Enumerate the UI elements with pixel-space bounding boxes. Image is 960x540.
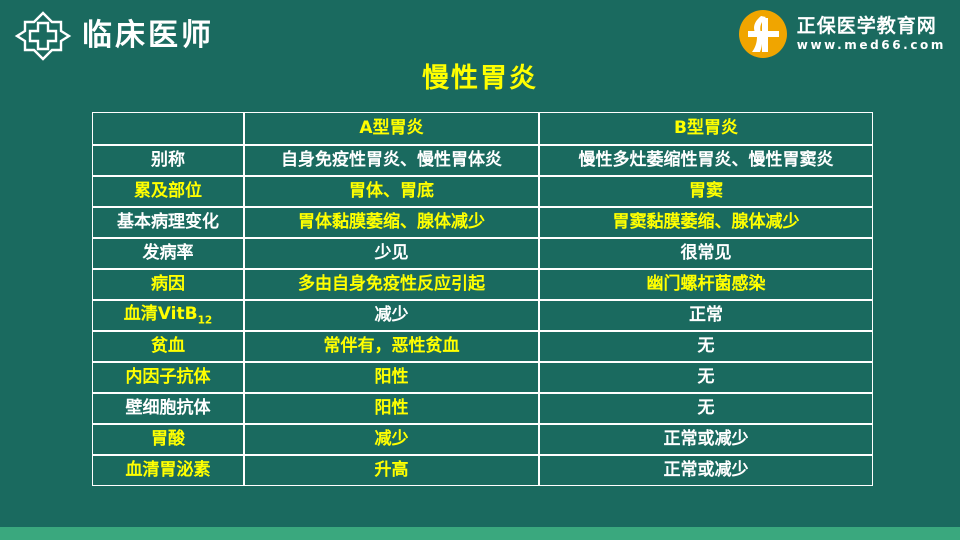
table-cell-type-b: 无 [539, 393, 873, 424]
table-header-cell: A型胃炎 [244, 112, 539, 145]
table-cell-type-b: 幽门螺杆菌感染 [539, 269, 873, 300]
table-row-label: 血清VitB12 [92, 300, 244, 331]
table-row-label: 累及部位 [92, 176, 244, 207]
table-row-label: 壁细胞抗体 [92, 393, 244, 424]
table-cell-type-b: 胃窦黏膜萎缩、腺体减少 [539, 207, 873, 238]
table-row-label: 病因 [92, 269, 244, 300]
table-cell-type-a: 多由自身免疫性反应引起 [244, 269, 539, 300]
table-cell-type-a: 少见 [244, 238, 539, 269]
table-row: 血清胃泌素升高正常或减少 [92, 455, 873, 486]
table-cell-type-b: 很常见 [539, 238, 873, 269]
table-row: 贫血常伴有，恶性贫血无 [92, 331, 873, 362]
table-cell-type-b: 慢性多灶萎缩性胃炎、慢性胃窦炎 [539, 145, 873, 176]
table-row-label: 胃酸 [92, 424, 244, 455]
table-header-corner [92, 112, 244, 145]
med66-title: 正保医学教育网 [797, 17, 946, 36]
table-row: 血清VitB12减少正常 [92, 300, 873, 331]
page-title: 慢性胃炎 [0, 63, 960, 95]
table-row: 壁细胞抗体阳性无 [92, 393, 873, 424]
table-row: 病因多由自身免疫性反应引起幽门螺杆菌感染 [92, 269, 873, 300]
table-cell-type-a: 自身免疫性胃炎、慢性胃体炎 [244, 145, 539, 176]
slide-canvas: 临床医师 正保医学教育网 www.med66.com 慢性胃炎 A型胃炎B型胃炎… [0, 0, 960, 540]
table-row-label: 发病率 [92, 238, 244, 269]
table-cell-type-a: 常伴有，恶性贫血 [244, 331, 539, 362]
table-cell-type-b: 无 [539, 362, 873, 393]
brand-left-name: 临床医师 [82, 21, 214, 51]
table-cell-type-b: 胃窦 [539, 176, 873, 207]
table-cell-type-a: 胃体黏膜萎缩、腺体减少 [244, 207, 539, 238]
table-row-label: 血清胃泌素 [92, 455, 244, 486]
brand-right: 正保医学教育网 www.med66.com [738, 9, 946, 59]
table-row: 累及部位胃体、胃底胃窦 [92, 176, 873, 207]
table-row: 基本病理变化胃体黏膜萎缩、腺体减少胃窦黏膜萎缩、腺体减少 [92, 207, 873, 238]
comparison-table: A型胃炎B型胃炎别称自身免疫性胃炎、慢性胃体炎慢性多灶萎缩性胃炎、慢性胃窦炎累及… [92, 112, 873, 486]
table-cell-type-b: 正常或减少 [539, 455, 873, 486]
med66-url: www.med66.com [797, 39, 946, 51]
table-cell-type-a: 阳性 [244, 393, 539, 424]
table-row: 发病率少见很常见 [92, 238, 873, 269]
table-cell-type-a: 胃体、胃底 [244, 176, 539, 207]
table-cell-type-a: 升高 [244, 455, 539, 486]
med66-circle-cross-icon [738, 9, 788, 59]
med66-wordmark: 正保医学教育网 www.med66.com [797, 17, 946, 51]
brand-left: 临床医师 [14, 10, 214, 62]
table-header-row: A型胃炎B型胃炎 [92, 112, 873, 145]
comparison-table-wrapper: A型胃炎B型胃炎别称自身免疫性胃炎、慢性胃体炎慢性多灶萎缩性胃炎、慢性胃窦炎累及… [92, 112, 873, 486]
table-row: 胃酸减少正常或减少 [92, 424, 873, 455]
table-cell-type-b: 无 [539, 331, 873, 362]
table-row-label: 别称 [92, 145, 244, 176]
table-row-label: 基本病理变化 [92, 207, 244, 238]
table-cell-type-a: 减少 [244, 424, 539, 455]
table-cell-type-b: 正常或减少 [539, 424, 873, 455]
footer-accent-bar [0, 527, 960, 540]
table-row: 内因子抗体阳性无 [92, 362, 873, 393]
table-row-label: 贫血 [92, 331, 244, 362]
table-row: 别称自身免疫性胃炎、慢性胃体炎慢性多灶萎缩性胃炎、慢性胃窦炎 [92, 145, 873, 176]
table-body: A型胃炎B型胃炎别称自身免疫性胃炎、慢性胃体炎慢性多灶萎缩性胃炎、慢性胃窦炎累及… [92, 112, 873, 486]
table-row-label: 内因子抗体 [92, 362, 244, 393]
table-cell-type-b: 正常 [539, 300, 873, 331]
table-cell-type-a: 阳性 [244, 362, 539, 393]
medical-cross-diamond-icon [14, 10, 72, 62]
table-header-cell: B型胃炎 [539, 112, 873, 145]
table-cell-type-a: 减少 [244, 300, 539, 331]
